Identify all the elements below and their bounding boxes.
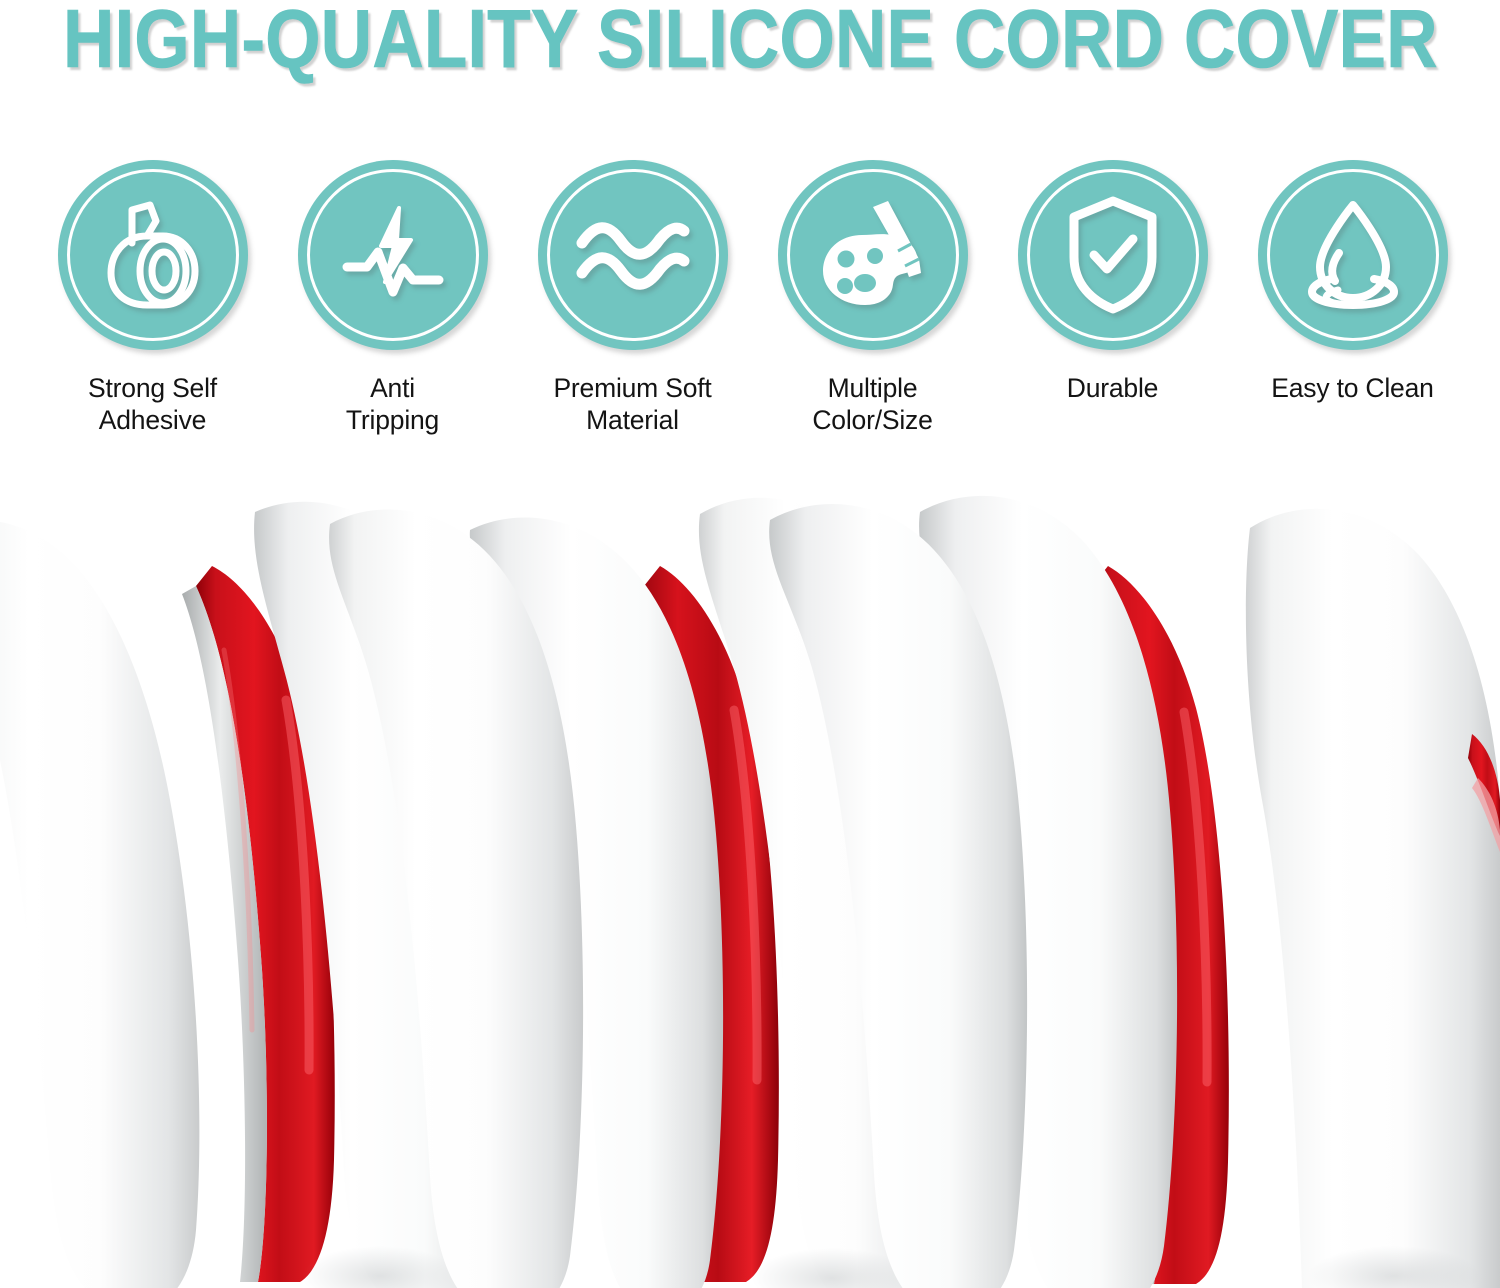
feature-item-easy-to-clean: Easy to Clean <box>1240 160 1465 404</box>
feature-item-multiple-color-size: Multiple Color/Size <box>760 160 985 436</box>
coil-illustration <box>0 470 1500 1288</box>
wavy-lines-icon <box>574 219 692 291</box>
feature-label: Anti Tripping <box>346 372 439 436</box>
page-title: HIGH-QUALITY SILICONE CORD COVER <box>63 0 1438 78</box>
feature-badge <box>298 160 488 350</box>
feature-label: Durable <box>1067 372 1158 404</box>
shield-check-icon <box>1061 195 1165 315</box>
feature-label: Premium Soft Material <box>553 372 711 436</box>
feature-item-premium-soft-material: Premium Soft Material <box>520 160 745 436</box>
feature-badge <box>538 160 728 350</box>
tape-roll-icon <box>101 199 205 311</box>
feature-label: Multiple Color/Size <box>812 372 932 436</box>
title-bar: HIGH-QUALITY SILICONE CORD COVER <box>0 0 1500 92</box>
feature-badge <box>1258 160 1448 350</box>
feature-item-durable: Durable <box>1000 160 1225 404</box>
lightning-pulse-icon <box>337 200 449 310</box>
water-drop-icon <box>1294 197 1412 313</box>
feature-badge <box>58 160 248 350</box>
feature-label: Easy to Clean <box>1271 372 1433 404</box>
feature-badge <box>1018 160 1208 350</box>
paint-palette-icon <box>815 197 931 313</box>
feature-item-anti-tripping: Anti Tripping <box>280 160 505 436</box>
feature-item-strong-self-adhesive: Strong Self Adhesive <box>40 160 265 436</box>
feature-badge <box>778 160 968 350</box>
product-photo-coiled-cord-cover <box>0 470 1500 1288</box>
feature-highlights-row: Strong Self Adhesive Anti Tripping <box>40 160 1465 436</box>
feature-label: Strong Self Adhesive <box>88 372 217 436</box>
